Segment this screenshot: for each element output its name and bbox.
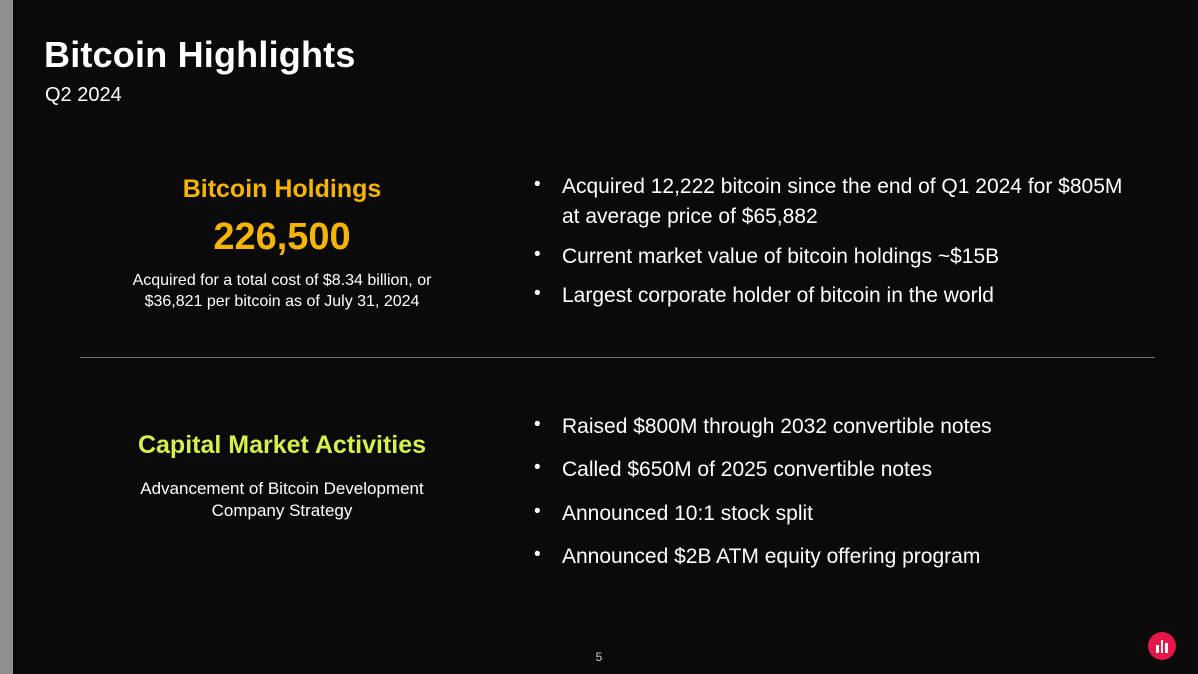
list-item-label: Current market value of bitcoin holdings… — [562, 245, 999, 268]
list-item-label: Acquired 12,222 bitcoin since the end of… — [562, 175, 1122, 228]
page-subtitle: Q2 2024 — [45, 84, 122, 107]
list-item-label: Called $650M of 2025 convertible notes — [562, 458, 932, 481]
bullet-marker-icon: • — [534, 281, 541, 308]
capital-market-activities-note: Advancement of Bitcoin Development Compa… — [80, 478, 484, 524]
microstrategy-logo-icon — [1148, 632, 1176, 660]
capital-market-activities-note-line1: Advancement of Bitcoin Development — [80, 478, 484, 501]
list-item-label: Announced 10:1 stock split — [562, 502, 813, 525]
bullet-marker-icon: • — [534, 455, 541, 482]
bitcoin-holdings-note: Acquired for a total cost of $8.34 billi… — [80, 270, 484, 313]
bitcoin-holdings-bullets: • Acquired 12,222 bitcoin since the end … — [528, 172, 1128, 321]
list-item: • Largest corporate holder of bitcoin in… — [528, 281, 1128, 311]
bitcoin-holdings-block: Bitcoin Holdings 226,500 Acquired for a … — [80, 176, 484, 313]
list-item: • Called $650M of 2025 convertible notes — [528, 455, 1148, 484]
list-item-label: Largest corporate holder of bitcoin in t… — [562, 284, 994, 307]
list-item: • Announced 10:1 stock split — [528, 499, 1148, 528]
bullet-marker-icon: • — [534, 542, 541, 569]
slide: Bitcoin Highlights Q2 2024 Bitcoin Holdi… — [0, 0, 1198, 674]
bitcoin-holdings-heading: Bitcoin Holdings — [80, 176, 484, 204]
bullet-marker-icon: • — [534, 412, 541, 439]
capital-market-activities-bullets: • Raised $800M through 2032 convertible … — [528, 412, 1148, 586]
list-item-label: Raised $800M through 2032 convertible no… — [562, 415, 992, 438]
bitcoin-holdings-note-line1: Acquired for a total cost of $8.34 billi… — [80, 270, 484, 292]
bullet-marker-icon: • — [534, 242, 541, 269]
page-number: 5 — [0, 650, 1198, 664]
list-item: • Current market value of bitcoin holdin… — [528, 242, 1128, 272]
bullet-marker-icon: • — [534, 172, 541, 199]
capital-market-activities-note-line2: Company Strategy — [80, 500, 484, 523]
bitcoin-holdings-value: 226,500 — [80, 218, 484, 256]
capital-market-activities-heading: Capital Market Activities — [80, 432, 484, 460]
section-divider — [80, 357, 1155, 358]
left-edge-bar — [0, 0, 13, 674]
capital-market-activities-block: Capital Market Activities Advancement of… — [80, 432, 484, 523]
list-item: • Raised $800M through 2032 convertible … — [528, 412, 1148, 441]
page-title: Bitcoin Highlights — [44, 34, 356, 76]
bullet-marker-icon: • — [534, 499, 541, 526]
bitcoin-holdings-note-line2: $36,821 per bitcoin as of July 31, 2024 — [80, 291, 484, 313]
logo-bars — [1156, 640, 1168, 653]
list-item: • Acquired 12,222 bitcoin since the end … — [528, 172, 1128, 232]
list-item-label: Announced $2B ATM equity offering progra… — [562, 545, 980, 568]
list-item: • Announced $2B ATM equity offering prog… — [528, 542, 1148, 571]
